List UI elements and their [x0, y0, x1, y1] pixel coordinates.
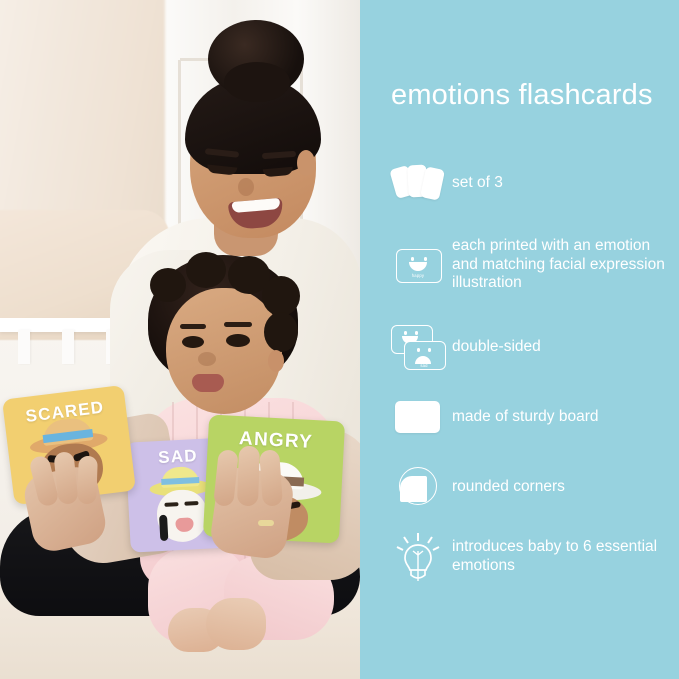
baby-eyebrow [180, 324, 206, 329]
feature-text: made of sturdy board [449, 408, 598, 427]
baby-foot [206, 598, 266, 650]
feature-text: double-sided [449, 338, 541, 357]
crib-bar [62, 330, 74, 364]
lightbulb-glyph [395, 531, 441, 583]
card-with-face-icon: happy [387, 237, 449, 293]
baby-eyebrow [224, 322, 252, 327]
baby-eye [226, 334, 250, 347]
icon-label: happy [387, 273, 449, 278]
feature-item: rounded corners [387, 456, 677, 518]
feature-list: set of 3 happy each printed with an emot… [387, 152, 677, 596]
baby-eye [182, 336, 204, 348]
feature-item: made of sturdy board [387, 386, 677, 448]
finger [237, 446, 260, 507]
finger [259, 449, 283, 506]
mother-ear [297, 150, 315, 176]
baby-mouth [192, 374, 224, 392]
lifestyle-photo: SAD SCARED ANGRY [0, 0, 360, 679]
baby-ear [268, 350, 284, 372]
icon-label: sad [404, 363, 444, 368]
feature-item: sad double-sided [387, 316, 677, 378]
baby-hair-curl [186, 252, 226, 288]
feature-text: rounded corners [449, 478, 565, 497]
baby-hair-curl [150, 268, 186, 302]
product-listing-image: SAD SCARED ANGRY [0, 0, 679, 679]
solid-card-icon [387, 389, 449, 445]
feature-text: set of 3 [449, 174, 503, 193]
feature-item: set of 3 [387, 152, 677, 214]
feature-panel: emotions flashcards set of 3 happy [360, 0, 679, 679]
lightbulb-icon [387, 529, 449, 585]
mother-hair-bun-base [224, 62, 290, 102]
crib-bar [18, 330, 30, 364]
ring [258, 520, 274, 526]
feature-text: introduces baby to 6 essential emotions [449, 538, 677, 576]
two-sided-cards-icon: sad [387, 319, 449, 375]
baby-nose [198, 352, 216, 366]
feature-item: introduces baby to 6 essential emotions [387, 526, 677, 588]
baby-hair-curl [264, 312, 298, 352]
panel-title: emotions flashcards [391, 80, 661, 112]
mother-nose [238, 178, 254, 196]
feature-text: each printed with an emotion and matchin… [449, 237, 677, 294]
baby-hair-curl [262, 276, 300, 316]
rounded-corner-icon [387, 459, 449, 515]
three-cards-icon [387, 155, 449, 211]
feature-item: happy each printed with an emotion and m… [387, 222, 677, 308]
finger [77, 456, 98, 505]
